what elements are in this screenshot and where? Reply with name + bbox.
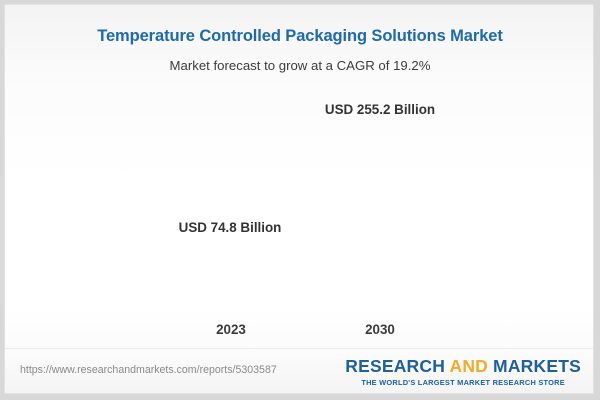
chart-card: Temperature Controlled Packaging Solutio… <box>4 4 594 394</box>
logo-tagline: THE WORLD'S LARGEST MARKET RESEARCH STOR… <box>345 378 581 387</box>
logo-text-markets: MARKETS <box>488 356 581 376</box>
source-url[interactable]: https://www.researchandmarkets.com/repor… <box>20 364 277 376</box>
bar-category-label-2023: 2023 <box>179 322 283 337</box>
logo-text-and: AND <box>449 356 488 376</box>
logo-text-research: RESEARCH <box>345 356 449 376</box>
chart-plot-area: USD 74.8 Billion 2023 USD 255.2 Billion … <box>5 5 594 350</box>
research-and-markets-logo[interactable]: RESEARCH AND MARKETS THE WORLD'S LARGEST… <box>345 356 581 387</box>
footer: https://www.researchandmarkets.com/repor… <box>5 348 594 393</box>
logo-wordmark: RESEARCH AND MARKETS <box>345 356 581 377</box>
bar-value-label-2023: USD 74.8 Billion <box>153 220 307 235</box>
bar-value-label-2030: USD 255.2 Billion <box>298 102 462 117</box>
bar-category-label-2030: 2030 <box>328 322 432 337</box>
